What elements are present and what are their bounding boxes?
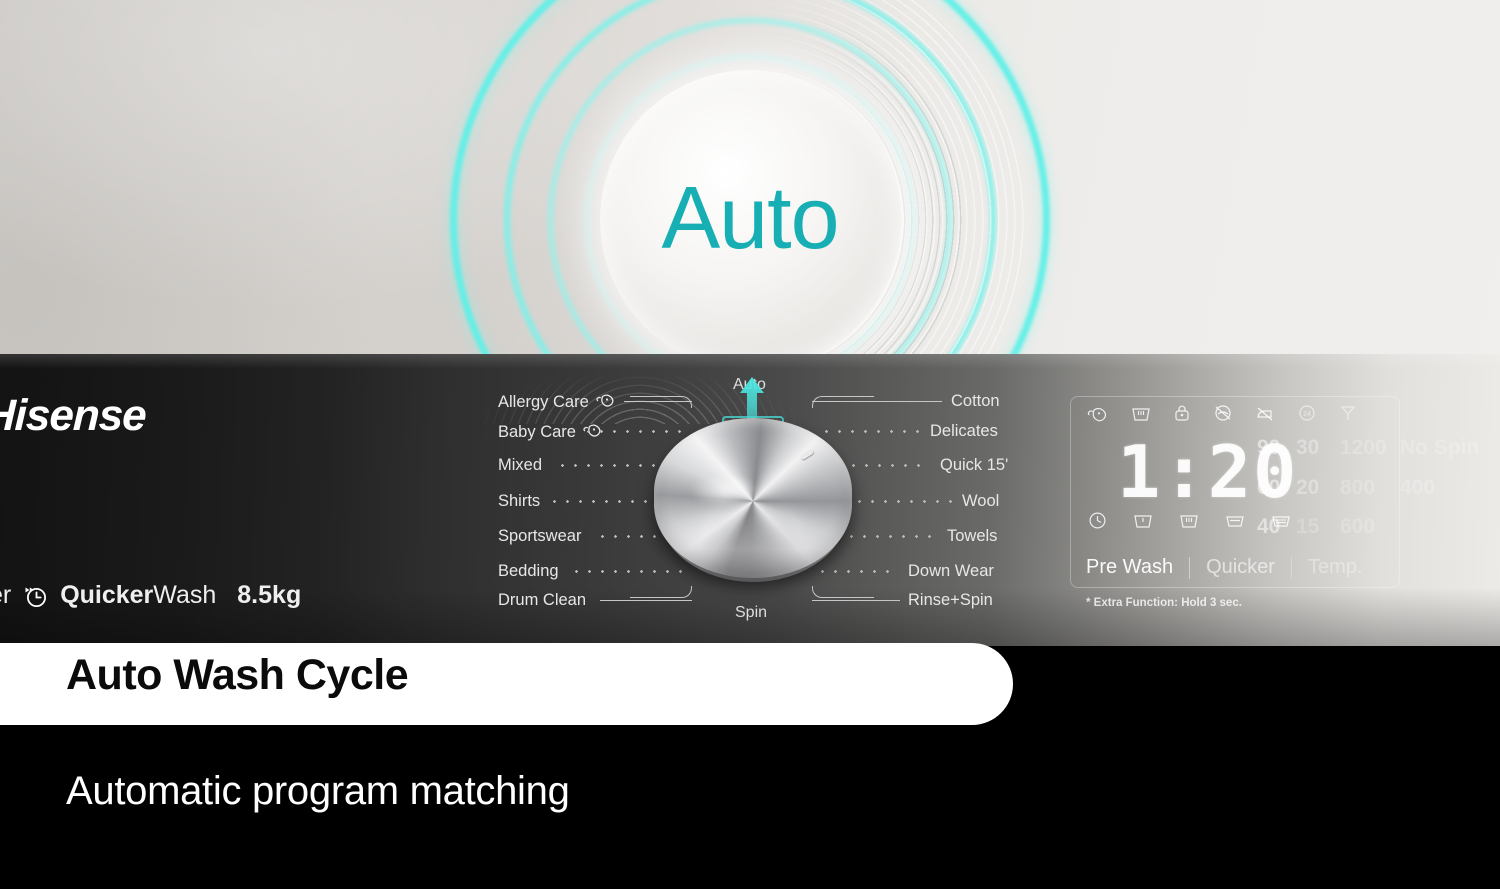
display-top-icon-row: 24	[1087, 404, 1357, 427]
dial-bottom-label: Spin	[735, 604, 767, 622]
program-label-cotton: Cotton	[951, 392, 1000, 411]
spin-value-15[interactable]: 15	[1296, 515, 1319, 539]
divider-1	[1189, 557, 1190, 579]
program-label-quick15: Quick 15'	[940, 456, 1008, 475]
drying-icon[interactable]	[1339, 404, 1357, 427]
program-label-delicates: Delicates	[930, 422, 998, 441]
spin-value-30[interactable]: 30	[1296, 436, 1319, 460]
delay-24h-icon[interactable]: 24	[1297, 404, 1317, 427]
feature-title: Auto Wash Cycle	[66, 651, 408, 700]
program-text: Allergy Care	[498, 393, 589, 412]
extra-value-no-spin[interactable]: No Spin	[1400, 436, 1479, 460]
leader-allergy-care	[624, 401, 692, 402]
spin-value-20[interactable]: 20	[1296, 476, 1319, 500]
divider-2	[1291, 557, 1292, 579]
leader-drum-clean	[600, 600, 692, 601]
temp-value-90[interactable]: 90	[1257, 436, 1280, 460]
bracket-top-right	[812, 396, 874, 408]
wash-tub-icon[interactable]	[1131, 405, 1151, 427]
program-label-towels: Towels	[947, 527, 997, 546]
temp-button[interactable]: Temp.	[1308, 556, 1362, 579]
no-iron-icon[interactable]	[1255, 405, 1275, 427]
bracket-top-left	[630, 396, 692, 408]
knob-highlight	[690, 474, 760, 508]
program-label-rinse-spin: Rinse+Spin	[908, 591, 993, 610]
temp-value-60[interactable]: 60	[1257, 476, 1280, 500]
program-label-mixed: Mixed	[498, 456, 542, 475]
allergy-care-icon	[596, 392, 616, 413]
clock-icon[interactable]	[1088, 511, 1107, 535]
extra-value-1200[interactable]: 1200	[1340, 436, 1387, 460]
extra-value-400[interactable]: 400	[1400, 476, 1435, 500]
svg-text:24: 24	[1303, 411, 1311, 418]
quicker-button[interactable]: Quicker	[1206, 556, 1275, 579]
allergy-care-icon[interactable]	[1087, 405, 1109, 427]
no-spin-icon[interactable]	[1213, 404, 1233, 427]
rinse-1-icon[interactable]	[1225, 512, 1245, 534]
program-label-allergy-care: Allergy Care	[498, 392, 616, 413]
wash-level-1-icon[interactable]	[1133, 512, 1153, 534]
display-button-row: Pre Wash Quicker Temp.	[1086, 556, 1362, 579]
pre-wash-button[interactable]: Pre Wash	[1086, 556, 1173, 579]
program-label-down-wear: Down Wear	[908, 562, 994, 581]
program-label-drum-clean: Drum Clean	[498, 591, 586, 610]
leader-wool	[840, 500, 954, 503]
rinse-2-icon[interactable]	[1271, 512, 1291, 534]
leader-shirts	[548, 500, 668, 503]
leader-cotton	[812, 401, 942, 402]
extra-value-800[interactable]: 800	[1340, 476, 1375, 500]
program-label-bedding: Bedding	[498, 562, 559, 581]
knob-rim	[658, 432, 848, 582]
child-lock-icon[interactable]	[1173, 404, 1191, 427]
program-label-sportswear: Sportswear	[498, 527, 581, 546]
program-label-wool: Wool	[962, 492, 999, 511]
program-text: Baby Care	[498, 423, 576, 442]
auto-dial-label: Auto	[661, 167, 838, 269]
extra-value-600[interactable]: 600	[1340, 515, 1375, 539]
display-bottom-icon-row	[1088, 511, 1291, 535]
leader-rinse-spin	[812, 600, 900, 601]
product-feature-banner: Auto Hisense ter QuickerWash 8.5kg Auto …	[0, 0, 1500, 889]
program-label-shirts: Shirts	[498, 492, 540, 511]
feature-subtitle: Automatic program matching	[66, 769, 570, 814]
wash-level-2-icon[interactable]	[1179, 512, 1199, 534]
extra-function-footnote: * Extra Function: Hold 3 sec.	[1086, 597, 1242, 609]
program-selector-knob[interactable]	[654, 418, 852, 590]
